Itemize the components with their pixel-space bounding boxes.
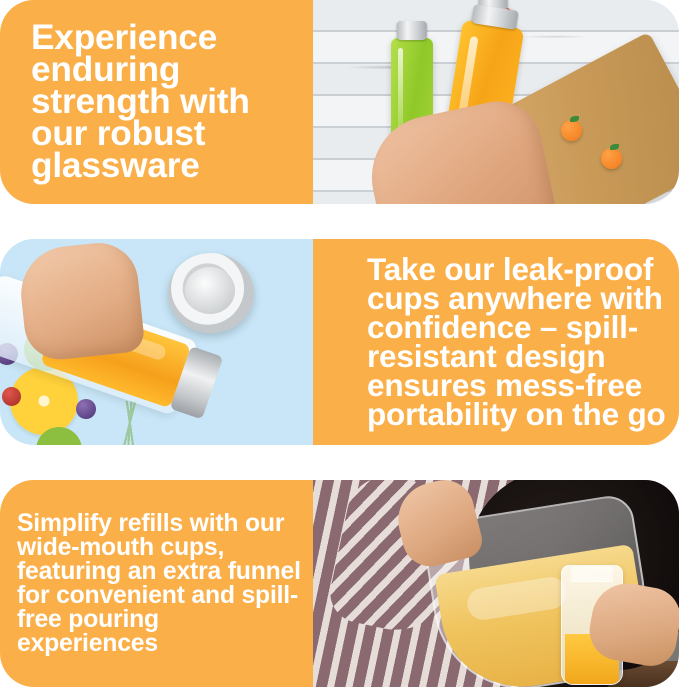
feature-photo-tilted-bottle-on-blue-background xyxy=(0,239,313,445)
blueberry-fruit xyxy=(76,399,96,419)
feature-photo-bottles-on-white-wood-table xyxy=(313,0,679,204)
bottle-highlight xyxy=(398,48,403,134)
stainless-steel-lid-object xyxy=(168,253,254,333)
product-feature-infographic: Experience enduring strength with our ro… xyxy=(0,0,679,687)
feature-text-pane-durability: Experience enduring strength with our ro… xyxy=(0,0,313,204)
feature-card-wide-mouth: Simplify refills with our wide-mouth cup… xyxy=(0,480,679,687)
feature-card-durability: Experience enduring strength with our ro… xyxy=(0,0,679,204)
bottle-neck xyxy=(571,566,613,582)
mini-orange-fruit xyxy=(561,120,582,141)
hand-tilting-bottle xyxy=(16,239,145,363)
mini-orange-fruit xyxy=(601,148,622,169)
bottle-cap-icon xyxy=(397,21,427,40)
feature-headline-wide-mouth: Simplify refills with our wide-mouth cup… xyxy=(17,512,305,656)
feature-text-pane-leak-proof: Take our leak-proof cups anywhere with c… xyxy=(313,239,679,445)
feature-photo-woman-pouring-juice-from-pitcher xyxy=(313,480,679,687)
feature-card-leak-proof: Take our leak-proof cups anywhere with c… xyxy=(0,239,679,445)
feature-headline-durability: Experience enduring strength with our ro… xyxy=(31,22,299,182)
feature-text-pane-wide-mouth: Simplify refills with our wide-mouth cup… xyxy=(0,480,313,687)
raspberry-fruit xyxy=(2,387,21,406)
feature-headline-leak-proof: Take our leak-proof cups anywhere with c… xyxy=(367,255,669,429)
